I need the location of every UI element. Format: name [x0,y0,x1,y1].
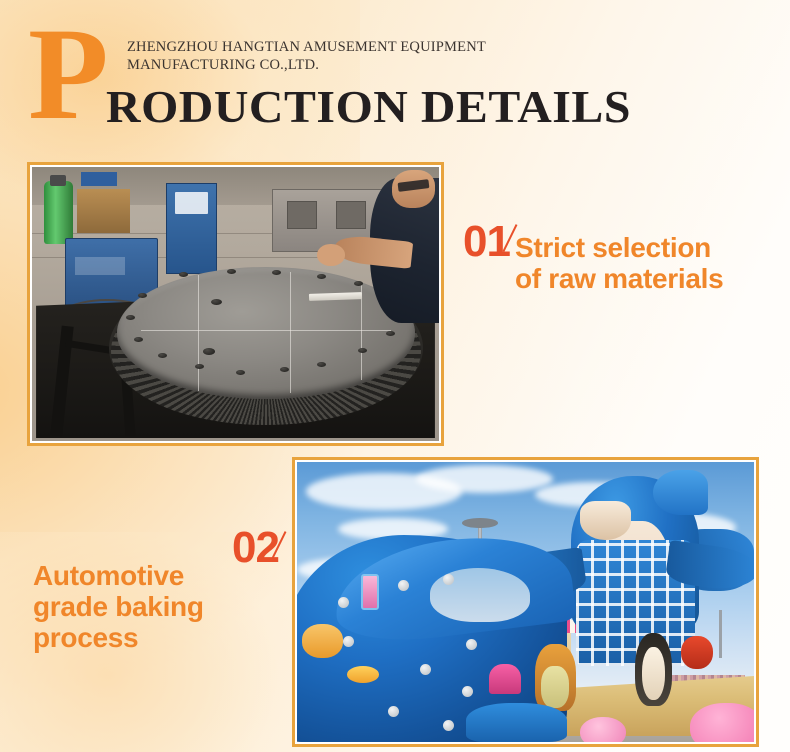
jig-slot [336,201,366,229]
green-gas-cylinder [44,181,72,244]
light-pole [719,610,722,658]
scribe-line [290,272,291,393]
wooden-pallet-stack [77,189,130,233]
dolphin-tail-fin [653,470,708,515]
bolt-hole [317,274,326,279]
bolt-hole [126,315,135,320]
wave-rivet [462,686,473,697]
bolt-hole [236,370,245,375]
cabinet-label-plate [175,192,208,213]
red-bird-figure [681,636,713,670]
bolt-hole [134,337,143,342]
caption-text-01: Strict selection of raw materials [515,232,785,294]
wave-pink-window [361,574,379,610]
light-pole-lamp [462,518,499,528]
factory-turntable-photo-inner [32,167,439,441]
steel-turntable-plate [117,267,414,399]
wave-rivet [466,639,477,650]
center-boss [203,348,215,355]
dolphin-snout [580,501,630,540]
dolphin-ride-photo [292,457,759,747]
wall-sign [81,172,118,186]
dolphin-ride-photo-inner [297,462,754,742]
factory-turntable-photo [27,162,444,446]
wave-rivet [398,580,409,591]
page-title: RODUCTION DETAILS [106,81,631,133]
cloud [416,465,553,493]
worker-hand [317,244,345,266]
dinosaur-belly [541,666,568,708]
bolt-hole [317,362,326,367]
caption-text-02: Automotive grade baking process [33,560,248,653]
page-root: P ZHENGZHOU HANGTIAN AMUSEMENT EQUIPMENT… [0,0,790,752]
wave-rivet [338,597,349,608]
bolt-hole [354,281,363,286]
blue-control-cabinet [166,183,217,273]
bolt-hole [138,293,147,298]
caption-number-01: 01 [463,220,510,264]
blue-boat-seat [466,703,567,742]
pink-ride-seat [489,664,521,695]
brand-initial-letter: P [28,8,107,140]
wave-rivet [343,636,354,647]
center-boss [211,299,222,305]
page-header: P ZHENGZHOU HANGTIAN AMUSEMENT EQUIPMENT… [0,0,790,150]
scribe-line [198,275,199,391]
bolt-hole [358,348,367,353]
wave-rivet [443,720,454,731]
gas-cylinder-valve [50,175,66,186]
scribe-line [141,330,391,331]
pink-figure [690,703,754,742]
pink-figure [580,717,626,742]
jig-slot [287,201,317,229]
penguin-belly [642,647,665,700]
company-name: ZHENGZHOU HANGTIAN AMUSEMENT EQUIPMENT M… [127,39,486,74]
wave-orange-window [302,624,343,658]
